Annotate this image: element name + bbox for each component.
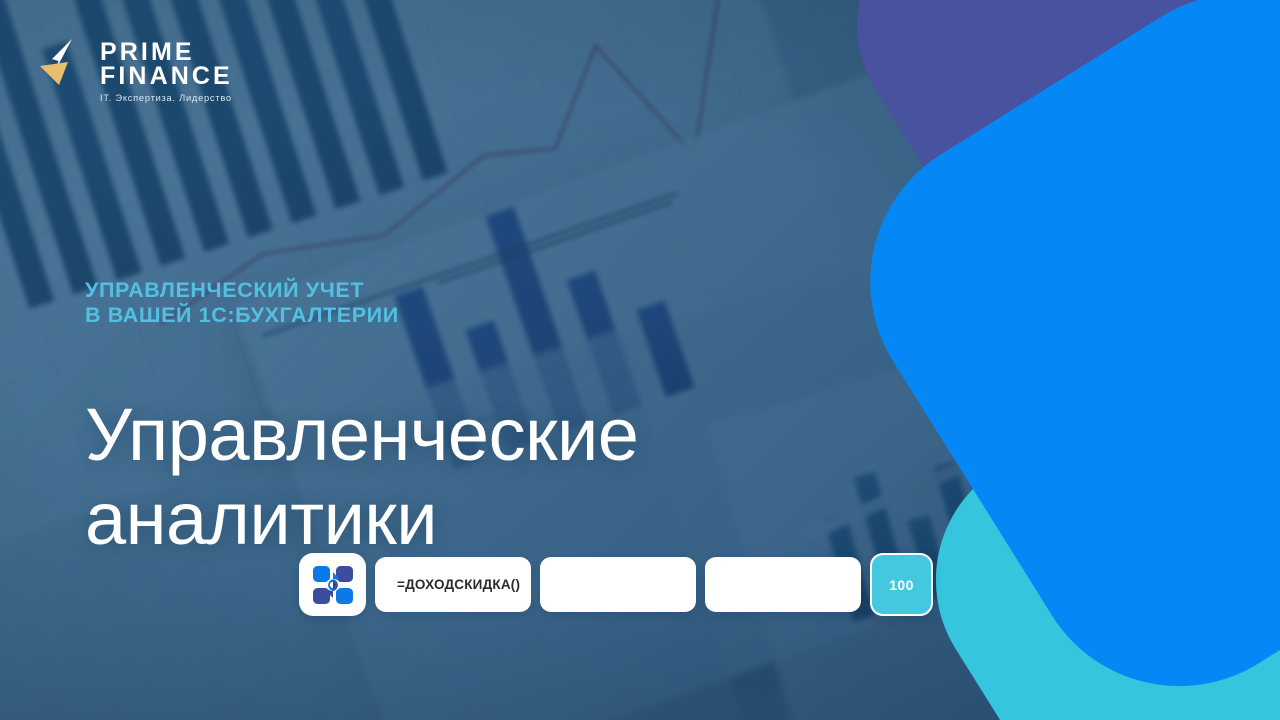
formula-field[interactable]: =ДОХОДСКИДКА() xyxy=(375,557,531,612)
brand-name-line-2: FINANCE xyxy=(100,64,233,88)
brand-logo-text: PRIME FINANCE IT. Экспертиза. Лидерство xyxy=(100,38,233,103)
formula-bar: =ДОХОДСКИДКА() 100 xyxy=(299,553,933,616)
blank-field-1[interactable] xyxy=(540,557,696,612)
1c-quadrant-app-icon xyxy=(313,566,353,604)
blank-field-2[interactable] xyxy=(705,557,861,612)
prime-finance-arrow-icon xyxy=(40,38,90,90)
presentation-slide: PRIME FINANCE IT. Экспертиза. Лидерство … xyxy=(0,0,1280,720)
brand-name-line-1: PRIME xyxy=(100,40,233,64)
value-badge-100[interactable]: 100 xyxy=(870,553,933,616)
hero-eyebrow: УПРАВЛЕНЧЕСКИЙ УЧЕТ В ВАШЕЙ 1С:БУХГАЛТЕР… xyxy=(85,278,399,327)
brand-tagline: IT. Экспертиза. Лидерство xyxy=(100,93,233,103)
1c-app-icon-tile[interactable] xyxy=(299,553,366,616)
page-title: Управленческие аналитики xyxy=(85,393,638,561)
brand-logo[interactable]: PRIME FINANCE IT. Экспертиза. Лидерство xyxy=(40,38,233,103)
